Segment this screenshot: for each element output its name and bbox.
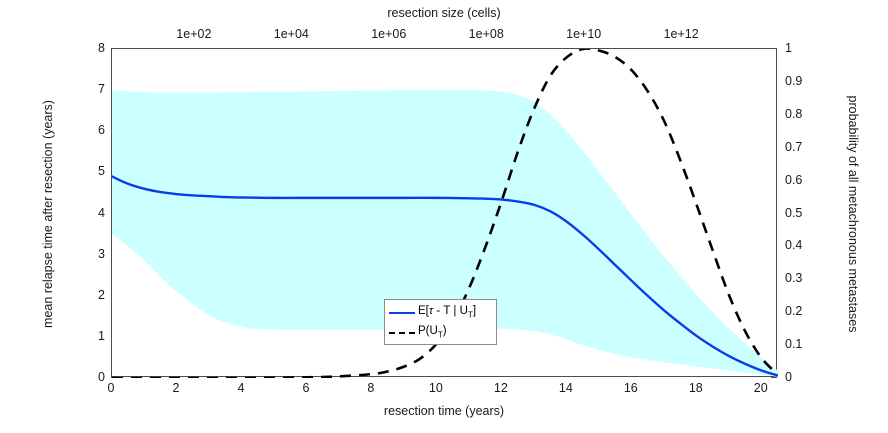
x-tick-label: 14 xyxy=(559,381,573,395)
y2-tick-label: 0.8 xyxy=(785,107,815,121)
y-tick-label: 0 xyxy=(79,370,105,384)
x-tick-label: 6 xyxy=(302,381,309,395)
y2-tick-label: 0.1 xyxy=(785,337,815,351)
y2-tick-label: 0.2 xyxy=(785,304,815,318)
top-tick-label: 1e+04 xyxy=(274,27,309,41)
y2-tick-label: 0.5 xyxy=(785,206,815,220)
x-tick-label: 12 xyxy=(494,381,508,395)
x-tick-label: 10 xyxy=(429,381,443,395)
y2-tick-label: 0.4 xyxy=(785,238,815,252)
legend-label-probability: P(UT) xyxy=(418,326,447,339)
y-tick-label: 2 xyxy=(79,288,105,302)
y2-tick-label: 0.9 xyxy=(785,74,815,88)
x-tick-label: 4 xyxy=(237,381,244,395)
y2-tick-label: 0.7 xyxy=(785,140,815,154)
y-tick-label: 3 xyxy=(79,247,105,261)
y-tick-label: 6 xyxy=(79,123,105,137)
top-tick-label: 1e+12 xyxy=(664,27,699,41)
x-tick-label: 8 xyxy=(367,381,374,395)
y2-tick-label: 0.6 xyxy=(785,173,815,187)
plot-area: E[τ - T | UT] P(UT) xyxy=(111,48,777,377)
top-tick-label: 1e+06 xyxy=(371,27,406,41)
y-tick-label: 7 xyxy=(79,82,105,96)
top-tick-label: 1e+10 xyxy=(566,27,601,41)
y-axis-title: mean relapse time after resection (years… xyxy=(41,49,55,379)
legend-label-mean-relapse: E[τ - T | UT] xyxy=(418,306,476,319)
legend-item-mean-relapse[interactable]: E[τ - T | UT] xyxy=(389,303,492,323)
figure: resection size (cells) resection time (y… xyxy=(0,0,888,433)
y2-tick-label: 0.3 xyxy=(785,271,815,285)
x-axis-title: resection time (years) xyxy=(0,404,888,418)
legend[interactable]: E[τ - T | UT] P(UT) xyxy=(384,299,497,345)
x-tick-label: 16 xyxy=(624,381,638,395)
y-tick-label: 4 xyxy=(79,206,105,220)
top-tick-label: 1e+08 xyxy=(469,27,504,41)
y-tick-label: 5 xyxy=(79,164,105,178)
y-tick-label: 1 xyxy=(79,329,105,343)
x-tick-label: 18 xyxy=(689,381,703,395)
legend-swatch-solid-line xyxy=(389,307,415,319)
y2-tick-label: 1 xyxy=(785,41,815,55)
legend-item-probability[interactable]: P(UT) xyxy=(389,323,492,343)
top-axis-title: resection size (cells) xyxy=(0,6,888,20)
top-tick-label: 1e+02 xyxy=(176,27,211,41)
y-tick-label: 8 xyxy=(79,41,105,55)
legend-swatch-dashed-line xyxy=(389,327,415,339)
x-tick-label: 2 xyxy=(172,381,179,395)
x-tick-label: 20 xyxy=(754,381,768,395)
y2-axis-title: probability of all metachronous metastas… xyxy=(846,49,860,379)
x-tick-label: 0 xyxy=(108,381,115,395)
y2-tick-label: 0 xyxy=(785,370,815,384)
